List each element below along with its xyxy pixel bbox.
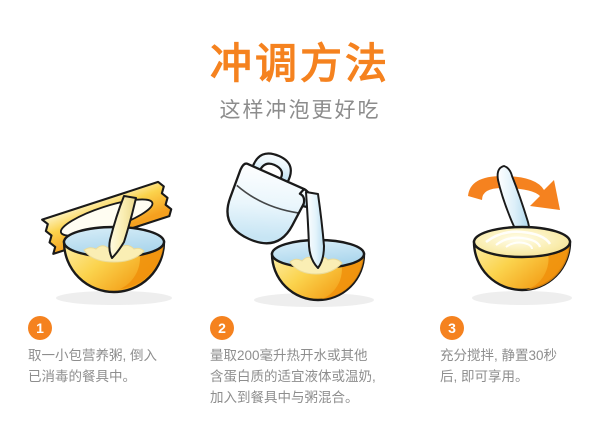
page-subtitle: 这样冲泡更好吃 (0, 98, 600, 124)
instruction-poster: 冲调方法 这样冲泡更好吃 (0, 0, 600, 432)
step-1: 1 取一小包营养粥, 倒入 已消毒的餐具中。 (0, 150, 205, 432)
step-2: 2 量取200毫升热开水或其他 含蛋白质的适宜液体或温奶, 加入到餐具中与粥混合… (205, 150, 417, 432)
step-1-text: 取一小包营养粥, 倒入 已消毒的餐具中。 (28, 345, 205, 387)
step-1-badge: 1 (28, 316, 52, 340)
step-3-text: 充分搅拌, 静置30秒 后, 即可享用。 (440, 345, 600, 387)
steps-container: 1 取一小包营养粥, 倒入 已消毒的餐具中。 (0, 150, 600, 432)
step-3-badge: 3 (440, 316, 464, 340)
step-3: 3 充分搅拌, 静置30秒 后, 即可享用。 (417, 150, 600, 432)
poster-header: 冲调方法 这样冲泡更好吃 (0, 40, 600, 124)
page-title: 冲调方法 (0, 40, 600, 88)
step-2-badge: 2 (210, 316, 234, 340)
step-2-illustration (210, 150, 417, 310)
pitcher-pouring-water-into-bowl-icon (210, 150, 410, 310)
step-2-text: 量取200毫升热开水或其他 含蛋白质的适宜液体或温奶, 加入到餐具中与粥混合。 (210, 345, 400, 408)
step-2-body: 2 量取200毫升热开水或其他 含蛋白质的适宜液体或温奶, 加入到餐具中与粥混合… (210, 316, 417, 408)
step-1-illustration (28, 150, 205, 310)
step-3-body: 3 充分搅拌, 静置30秒 后, 即可享用。 (440, 316, 600, 387)
step-1-body: 1 取一小包营养粥, 倒入 已消毒的餐具中。 (28, 316, 205, 387)
bowl-with-spoon-and-stir-arrow-icon (440, 150, 600, 310)
sachet-pouring-powder-into-bowl-icon (28, 150, 208, 310)
step-3-illustration (440, 150, 600, 310)
bowl (474, 227, 570, 290)
shadow (472, 291, 572, 305)
